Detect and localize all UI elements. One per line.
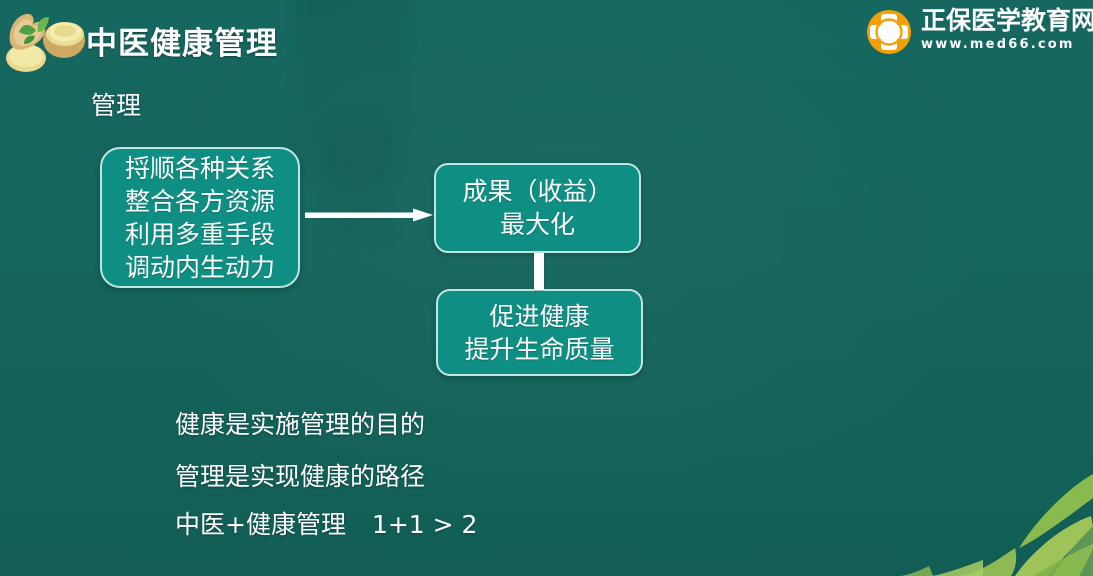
- node-line: 利用多重手段: [125, 218, 275, 251]
- background-band: [296, 0, 408, 180]
- node-line: 整合各方资源: [125, 185, 275, 218]
- logo-text-block: 正保医学教育网 www.med66.com: [921, 6, 1085, 54]
- brand-logo[interactable]: 正保医学教育网 www.med66.com: [865, 4, 1085, 62]
- medical-cross-circle-icon: [865, 8, 913, 56]
- slide-canvas: 中医健康管理 正保医学教育网 www.med66.com 管理 捋顺各种关系 整…: [0, 0, 1093, 576]
- brand-name: 正保医学教育网: [921, 6, 1085, 36]
- brand-url: www.med66.com: [921, 36, 1085, 54]
- node-line: 成果（收益）: [462, 175, 612, 208]
- bullet-line: 健康是实施管理的目的: [175, 405, 425, 441]
- diagram-node-outcome: 成果（收益） 最大化: [434, 163, 641, 253]
- node-line: 调动内生动力: [125, 251, 275, 284]
- ginger-root-icon: [2, 2, 88, 76]
- background-band-secondary: [330, 120, 390, 240]
- formula-right: 1+1 > 2: [372, 510, 478, 539]
- node-line: 提升生命质量: [464, 333, 614, 366]
- formula-left: 中医+健康管理: [175, 510, 346, 539]
- diagram-node-goal: 促进健康 提升生命质量: [436, 289, 643, 376]
- node-line: 捋顺各种关系: [125, 152, 275, 185]
- arrow-right-icon: [305, 208, 433, 222]
- connector-vertical: [534, 253, 544, 290]
- section-subtitle: 管理: [91, 86, 141, 122]
- page-title: 中医健康管理: [86, 18, 278, 63]
- node-line: 最大化: [500, 208, 575, 241]
- node-line: 促进健康: [489, 300, 589, 333]
- grass-leaves-icon: [833, 426, 1093, 576]
- formula-line: 中医+健康管理1+1 > 2: [175, 505, 477, 541]
- diagram-node-inputs: 捋顺各种关系 整合各方资源 利用多重手段 调动内生动力: [100, 147, 300, 288]
- bullet-line: 管理是实现健康的路径: [175, 457, 425, 493]
